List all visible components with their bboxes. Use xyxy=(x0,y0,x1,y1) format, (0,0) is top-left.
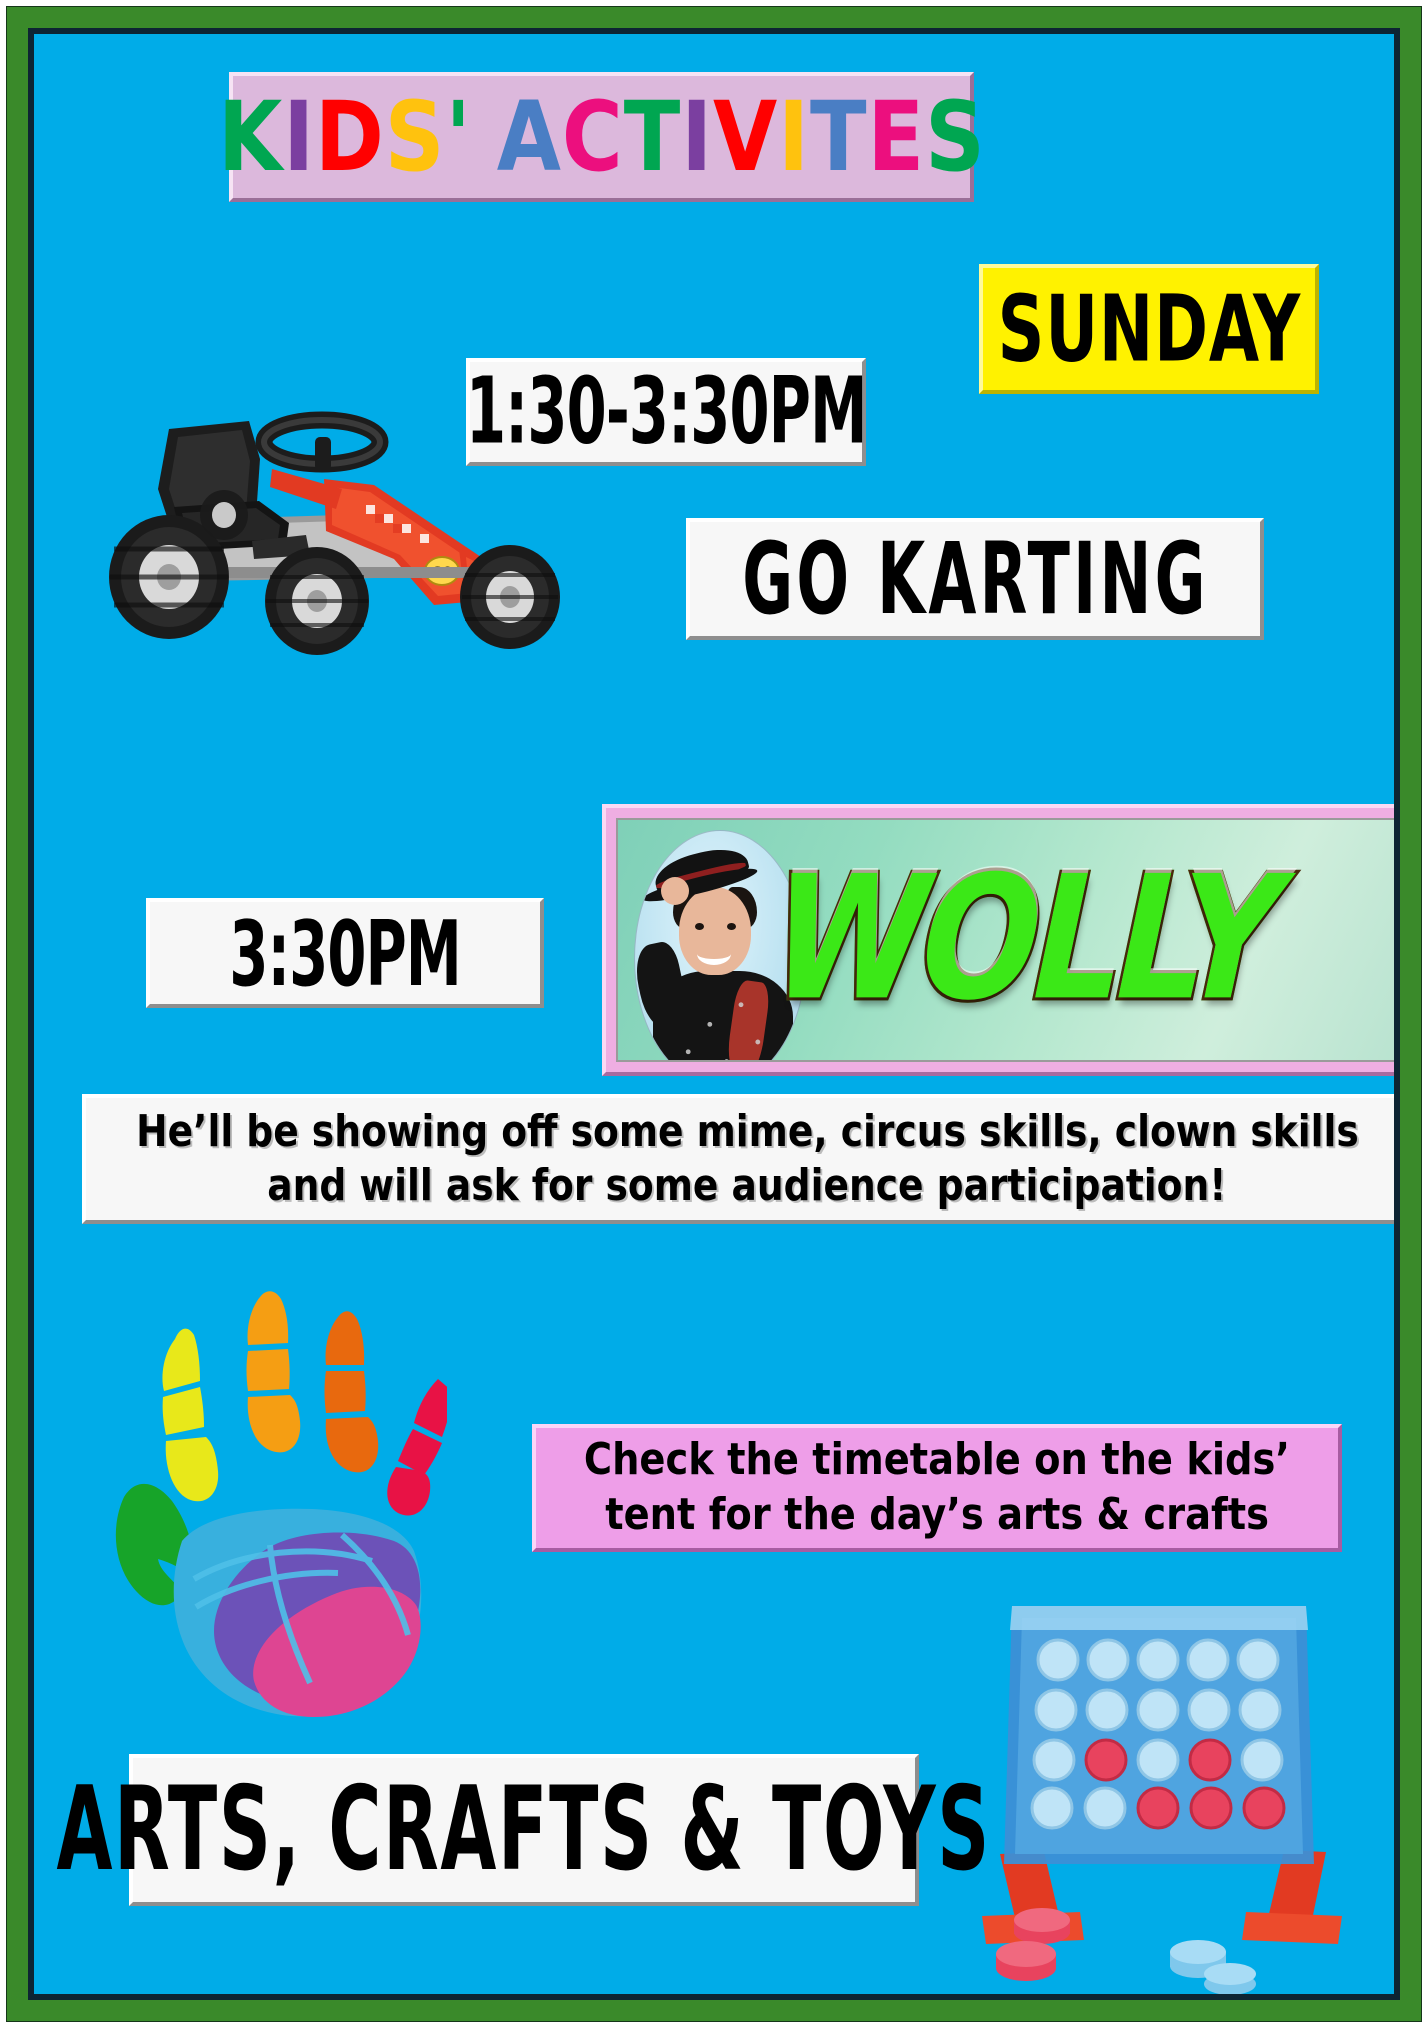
wolly-banner: WOLLY xyxy=(602,804,1394,1076)
rainbow-handprint-graphic xyxy=(102,1279,447,1729)
giant-connect-four-game xyxy=(934,1564,1384,1994)
clown-eye-right xyxy=(727,923,736,930)
kids-activities-poster: KIDS' ACTIVITES 60 xyxy=(0,0,1428,2028)
clown-hand xyxy=(661,877,689,905)
title-letter: V xyxy=(713,89,778,185)
title-letter: I xyxy=(283,89,315,185)
title-letter: E xyxy=(867,89,925,185)
title-letter: I xyxy=(778,89,810,185)
clown-smile xyxy=(697,943,731,965)
activity-name-label: GO KARTING xyxy=(742,521,1209,637)
title-letter: S xyxy=(384,89,445,185)
wolly-description-box: He’ll be showing off some mime, circus s… xyxy=(82,1094,1394,1224)
timetable-notice-line: Check the timetable on the kids’ xyxy=(584,1433,1290,1488)
wolly-description-line: He’ll be showing off some mime, circus s… xyxy=(136,1105,1359,1159)
timetable-notice-box: Check the timetable on the kids’ tent fo… xyxy=(532,1424,1342,1552)
wolly-wordmark: WOLLY xyxy=(755,855,1293,1026)
title-letter: C xyxy=(562,89,624,185)
timetable-notice-line: tent for the day’s arts & crafts xyxy=(605,1488,1269,1543)
poster-title-box: KIDS' ACTIVITES xyxy=(229,72,974,202)
day-badge: SUNDAY xyxy=(979,264,1319,394)
activity-name-box-arts-crafts: ARTS, CRAFTS & TOYS xyxy=(129,1754,919,1906)
activity-time-box-go-karting: 1:30-3:30PM xyxy=(466,358,866,466)
day-badge-label: SUNDAY xyxy=(997,276,1300,382)
activity-name-label: ARTS, CRAFTS & TOYS xyxy=(57,1763,991,1898)
title-letter: ' xyxy=(445,89,471,185)
title-letter: A xyxy=(496,89,561,185)
activity-name-box-go-karting: GO KARTING xyxy=(686,518,1264,640)
title-letter-space xyxy=(471,89,496,185)
activity-time-box-wolly: 3:30PM xyxy=(146,898,544,1008)
wolly-banner-inner: WOLLY xyxy=(616,818,1394,1062)
page-title: KIDS' ACTIVITES xyxy=(218,89,986,185)
title-letter: T xyxy=(623,89,681,185)
poster-canvas: KIDS' ACTIVITES 60 xyxy=(34,34,1394,1994)
title-letter: T xyxy=(810,89,868,185)
title-letter: I xyxy=(681,89,713,185)
clown-eye-left xyxy=(695,923,704,930)
title-letter: S xyxy=(925,89,986,185)
wolly-description-line: and will ask for some audience participa… xyxy=(267,1159,1226,1213)
activity-time-label: 3:30PM xyxy=(229,900,460,1005)
title-letter: D xyxy=(315,89,385,185)
title-letter: K xyxy=(218,89,283,185)
activity-time-label: 1:30-3:30PM xyxy=(466,359,867,465)
